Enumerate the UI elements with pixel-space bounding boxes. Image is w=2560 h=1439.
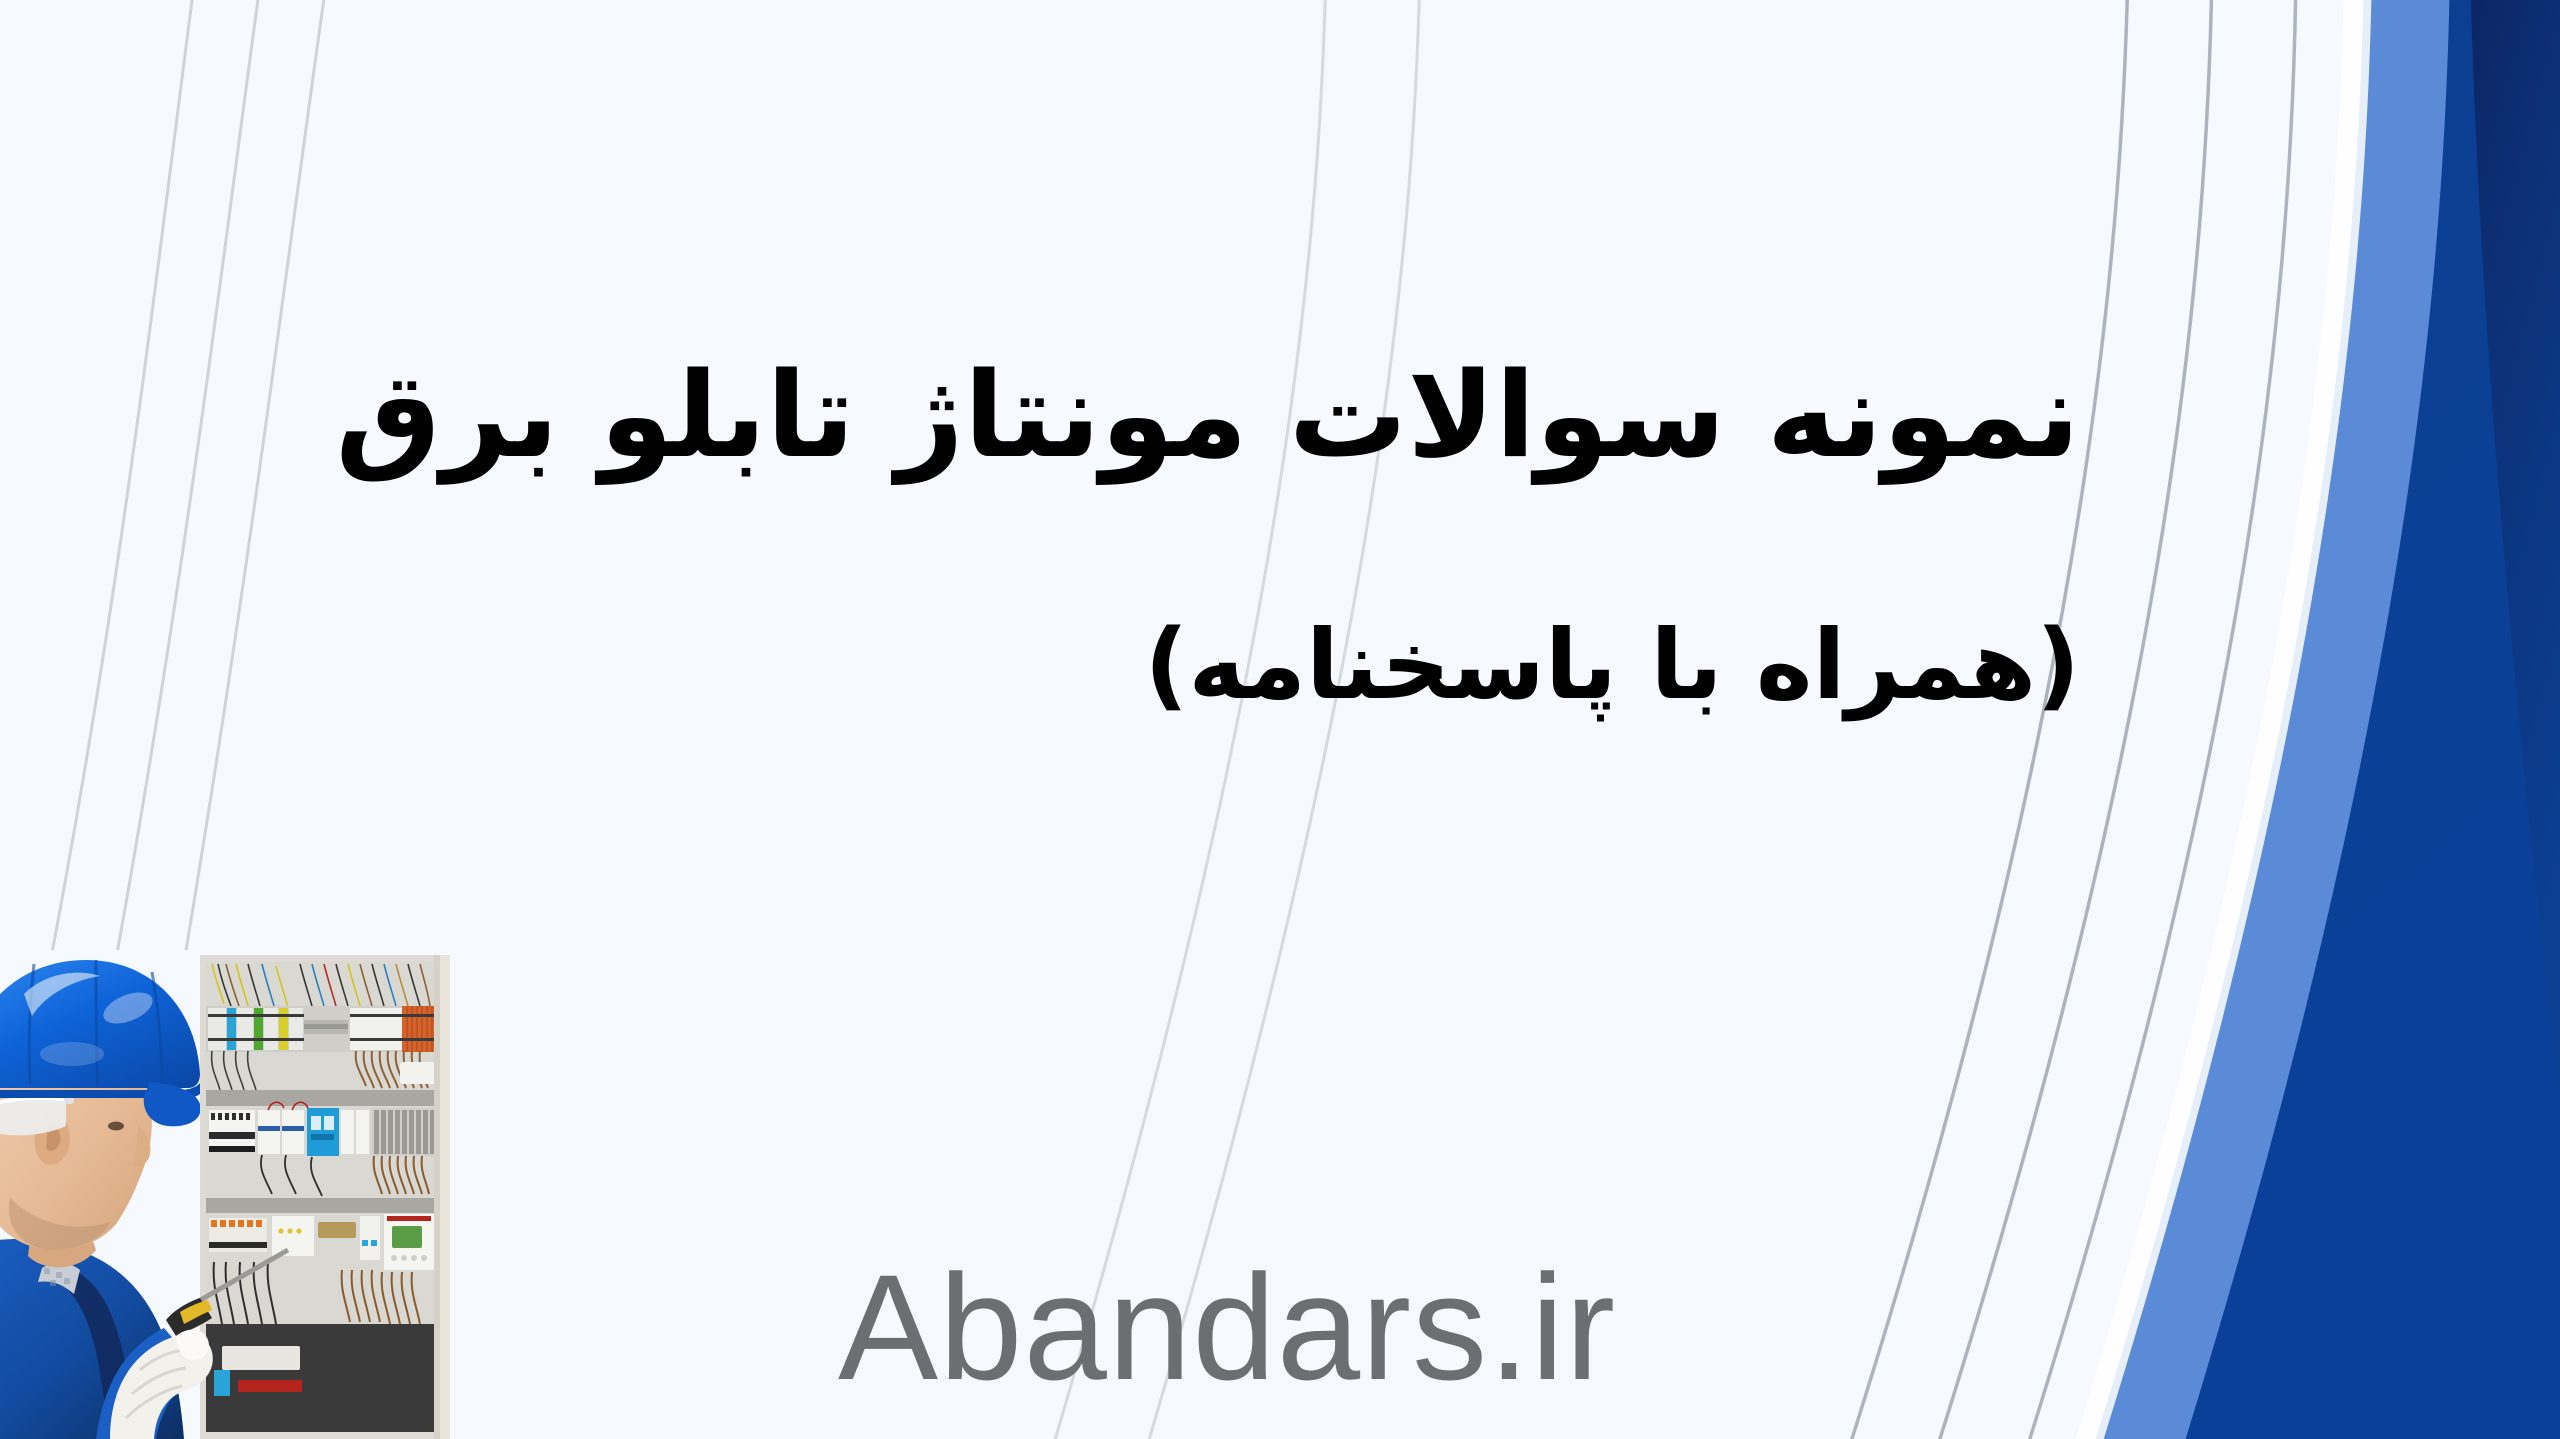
technician-panel-photo (0, 950, 765, 1439)
swoosh-edge-highlight (2066, 0, 2372, 1439)
title-block: نمونه سوالات مونتاژ تابلو برق (همراه با … (480, 330, 2080, 737)
swoosh-blue (2176, 0, 2560, 1439)
page-title: نمونه سوالات مونتاژ تابلو برق (480, 330, 2080, 501)
page-subtitle: (همراه با پاسخنامه) (480, 593, 2080, 737)
swoosh-light-accent (2086, 0, 2560, 1439)
control-panel-photo (192, 955, 450, 1439)
photo-illustration (0, 950, 765, 1439)
site-watermark: Abandars.ir (838, 1252, 1616, 1402)
swoosh-dark-navy (2470, 0, 2560, 1100)
presentation-slide: نمونه سوالات مونتاژ تابلو برق (همراه با … (0, 0, 2560, 1439)
